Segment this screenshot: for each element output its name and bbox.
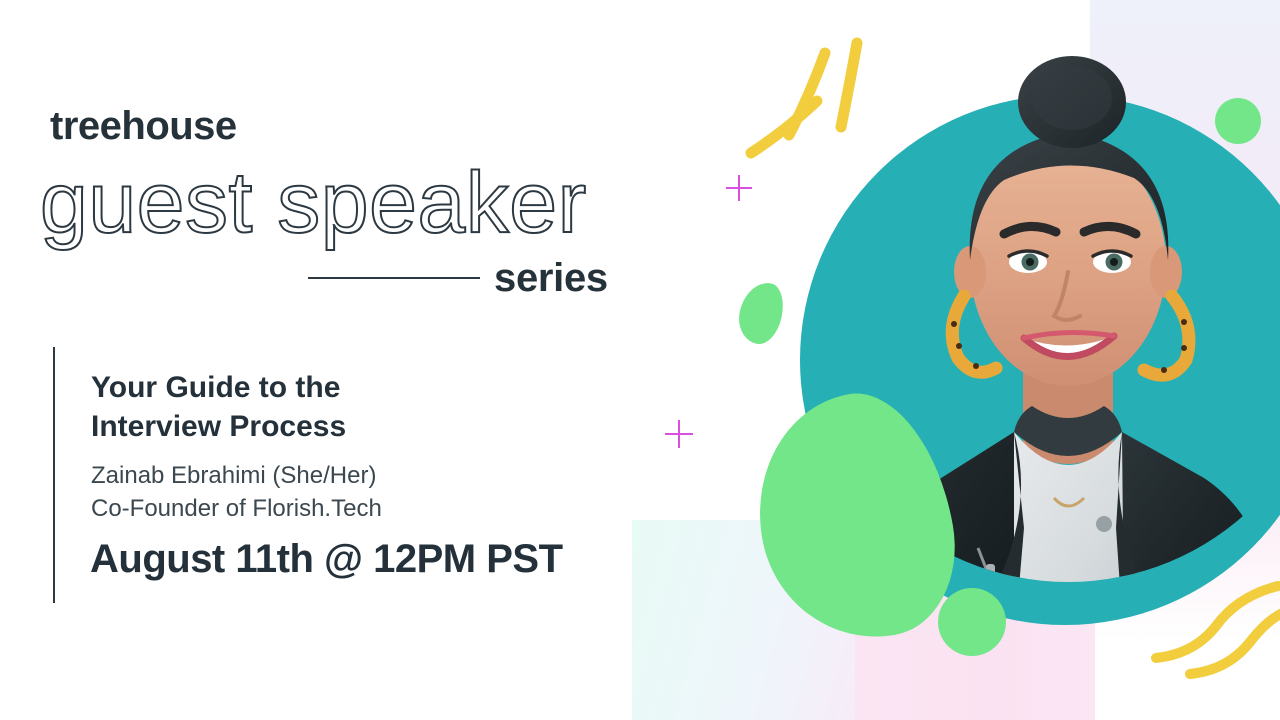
talk-title-line-2: Interview Process — [91, 407, 561, 446]
series-label: series — [494, 256, 608, 301]
green-dot-small — [938, 588, 1006, 656]
series-row: series — [308, 256, 628, 300]
promo-graphic: treehouse guest speaker series Your Guid… — [0, 0, 1280, 720]
talk-title: Your Guide to the Interview Process — [91, 368, 561, 446]
vertical-divider-rule — [53, 347, 55, 603]
green-teardrop-blob — [734, 278, 788, 347]
text-column: treehouse guest speaker series Your Guid… — [0, 0, 660, 720]
event-datetime: August 11th @ 12PM PST — [90, 537, 610, 582]
sparkle-strokes-icon — [745, 35, 895, 175]
guest-speaker-headline: guest speaker — [40, 158, 587, 248]
plus-mark-icon-lower — [665, 420, 693, 448]
treehouse-wordmark: treehouse — [50, 104, 237, 149]
plus-mark-icon-upper — [726, 175, 752, 201]
series-divider-rule — [308, 277, 480, 279]
speaker-name: Zainab Ebrahimi (She/Her) — [91, 460, 561, 493]
talk-title-line-1: Your Guide to the — [91, 368, 561, 407]
squiggle-strokes-icon — [1150, 570, 1280, 680]
speaker-details: Zainab Ebrahimi (She/Her) Co-Founder of … — [91, 460, 561, 525]
speaker-role: Co-Founder of Florish.Tech — [91, 493, 561, 526]
